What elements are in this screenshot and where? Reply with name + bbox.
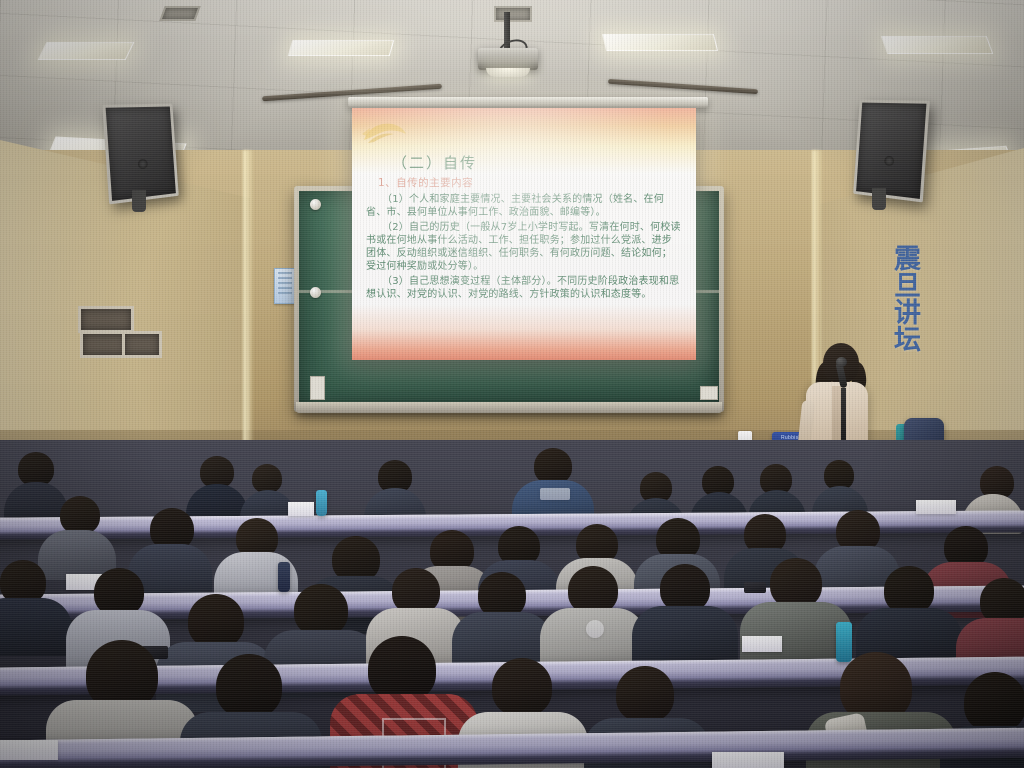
tissue-box [288, 502, 314, 516]
slide-subtitle: 1、自传的主要内容 [378, 175, 682, 190]
student-head [294, 584, 348, 636]
notebook [742, 636, 782, 652]
student-head [616, 666, 674, 722]
blackboard-knob [310, 199, 321, 210]
slide-content: （二）自传 1、自传的主要内容 （1）个人和家庭主要情况、主要社会关系的情况（姓… [352, 146, 696, 334]
blackboard-eraser [310, 376, 325, 400]
projector-lens [486, 68, 530, 77]
student-head [534, 448, 572, 484]
blackboard-knob [310, 287, 321, 298]
chalk-tray [296, 402, 722, 413]
wall-light-strip [243, 150, 253, 450]
projection-screen-housing [348, 97, 708, 108]
water-bottle [316, 490, 327, 516]
party-emblem-icon [358, 114, 410, 150]
student-head [770, 558, 822, 608]
student-head [216, 654, 282, 718]
water-bottle [836, 622, 852, 662]
ceiling-light-panel [602, 34, 718, 51]
ceiling-light-panel [288, 40, 395, 56]
slide-paragraph: （2）自己的历史（一般从7岁上小学时写起。写清在何时、何校读书或在何地从事什么活… [366, 221, 682, 273]
smartphone [744, 582, 766, 593]
notebook [712, 752, 784, 768]
water-bottle [278, 562, 290, 592]
wall-vent-panel [122, 331, 162, 358]
student-body [0, 598, 72, 656]
notebook [916, 500, 956, 514]
student-head [188, 594, 244, 648]
speaker-mount-bracket [132, 190, 146, 212]
slide-paragraph: （1）个人和家庭主要情况、主要社会关系的情况（姓名、在何省、市、县何单位从事何工… [366, 193, 682, 219]
projection-screen: （二）自传 1、自传的主要内容 （1）个人和家庭主要情况、主要社会关系的情况（姓… [352, 108, 696, 360]
student-head [660, 564, 710, 612]
venue-sign: 震旦讲坛 [878, 214, 924, 382]
blackboard-eraser [700, 386, 718, 400]
ceiling-vent [494, 6, 532, 22]
jacket-print [540, 488, 570, 500]
ceiling-projector [478, 48, 538, 70]
student-head [60, 496, 100, 534]
student-head [368, 636, 436, 702]
student-head [964, 672, 1024, 732]
wall-vent-panel [80, 331, 128, 358]
microphone-stand [841, 388, 846, 446]
lecture-hall-photo: 震旦讲坛 （二）自传 1、自传的主要内容 （1）个人和家庭主要情况、主要社会关系… [0, 0, 1024, 768]
student-head [18, 452, 54, 486]
microphone-head [836, 357, 847, 367]
audience-seating-area [0, 440, 1024, 768]
student-head [568, 566, 618, 614]
student-head [94, 568, 144, 616]
hoodie-logo [586, 620, 604, 638]
notebook [0, 740, 58, 760]
presentation-slide: （二）自传 1、自传的主要内容 （1）个人和家庭主要情况、主要社会关系的情况（姓… [352, 108, 696, 360]
ceiling-light-panel [881, 36, 994, 54]
ceiling-vent [159, 6, 200, 21]
student-head [492, 658, 552, 716]
wall-speaker-right [853, 100, 930, 203]
slide-title: （二）自传 [392, 152, 682, 173]
student-head [884, 566, 934, 614]
student-head [252, 464, 282, 493]
venue-sign-text: 震旦讲坛 [889, 244, 920, 352]
notice-placard [274, 268, 296, 304]
speaker-mount-bracket [872, 188, 886, 210]
slide-paragraph: （3）自己思想演变过程（主体部分）。不同历史阶段政治表现和思想认识、对党的认识、… [366, 275, 682, 301]
ceiling-light-panel [38, 42, 135, 60]
wall-vent-panel [78, 306, 134, 333]
